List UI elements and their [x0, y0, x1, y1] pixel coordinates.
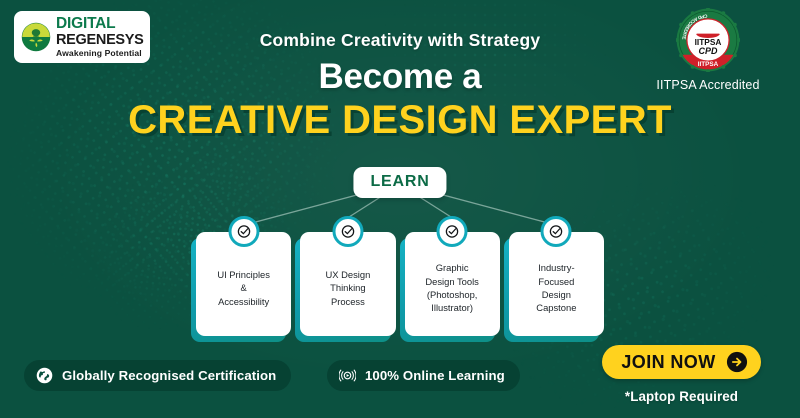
card-face: UX DesignThinkingProcess	[300, 232, 395, 336]
card-label: Industry-FocusedDesignCapstone	[536, 261, 576, 314]
card-label: UX DesignThinkingProcess	[325, 268, 370, 308]
feature-label: Globally Recognised Certification	[62, 368, 276, 383]
course-module-cards: UI Principles&Accessibility UX DesignThi…	[196, 232, 604, 336]
feature-pill-certification: Globally Recognised Certification	[24, 360, 291, 391]
promotional-banner: DIGITAL REGENESYS Awakening Potential II…	[0, 0, 800, 418]
learn-badge: LEARN	[353, 167, 446, 198]
globe-icon	[36, 367, 53, 384]
module-card[interactable]: Industry-FocusedDesignCapstone	[509, 232, 604, 336]
headline-block: Combine Creativity with Strategy Become …	[0, 30, 800, 141]
cta-note: *Laptop Required	[625, 389, 738, 404]
module-card[interactable]: UI Principles&Accessibility	[196, 232, 291, 336]
card-face: Industry-FocusedDesignCapstone	[509, 232, 604, 336]
headline-line2: CREATIVE DESIGN EXPERT	[0, 100, 800, 142]
module-card[interactable]: UX DesignThinkingProcess	[300, 232, 395, 336]
card-face: UI Principles&Accessibility	[196, 232, 291, 336]
feature-pill-online-learning: 100% Online Learning	[327, 360, 520, 391]
headline-line1: Become a	[0, 58, 800, 96]
check-circle-icon	[228, 216, 259, 247]
cta-block: JOIN NOW *Laptop Required	[579, 345, 784, 404]
join-now-label: JOIN NOW	[621, 352, 715, 373]
module-card[interactable]: GraphicDesign Tools(Photoshop,Illustrato…	[405, 232, 500, 336]
broadcast-play-icon	[339, 367, 356, 384]
feature-label: 100% Online Learning	[365, 368, 505, 383]
check-circle-icon	[332, 216, 363, 247]
check-circle-icon	[437, 216, 468, 247]
card-face: GraphicDesign Tools(Photoshop,Illustrato…	[405, 232, 500, 336]
join-now-button[interactable]: JOIN NOW	[602, 345, 760, 379]
card-label: GraphicDesign Tools(Photoshop,Illustrato…	[425, 261, 479, 314]
arrow-right-circle-icon	[726, 351, 748, 373]
kicker-text: Combine Creativity with Strategy	[0, 30, 800, 51]
card-label: UI Principles&Accessibility	[217, 268, 270, 308]
check-circle-icon	[541, 216, 572, 247]
